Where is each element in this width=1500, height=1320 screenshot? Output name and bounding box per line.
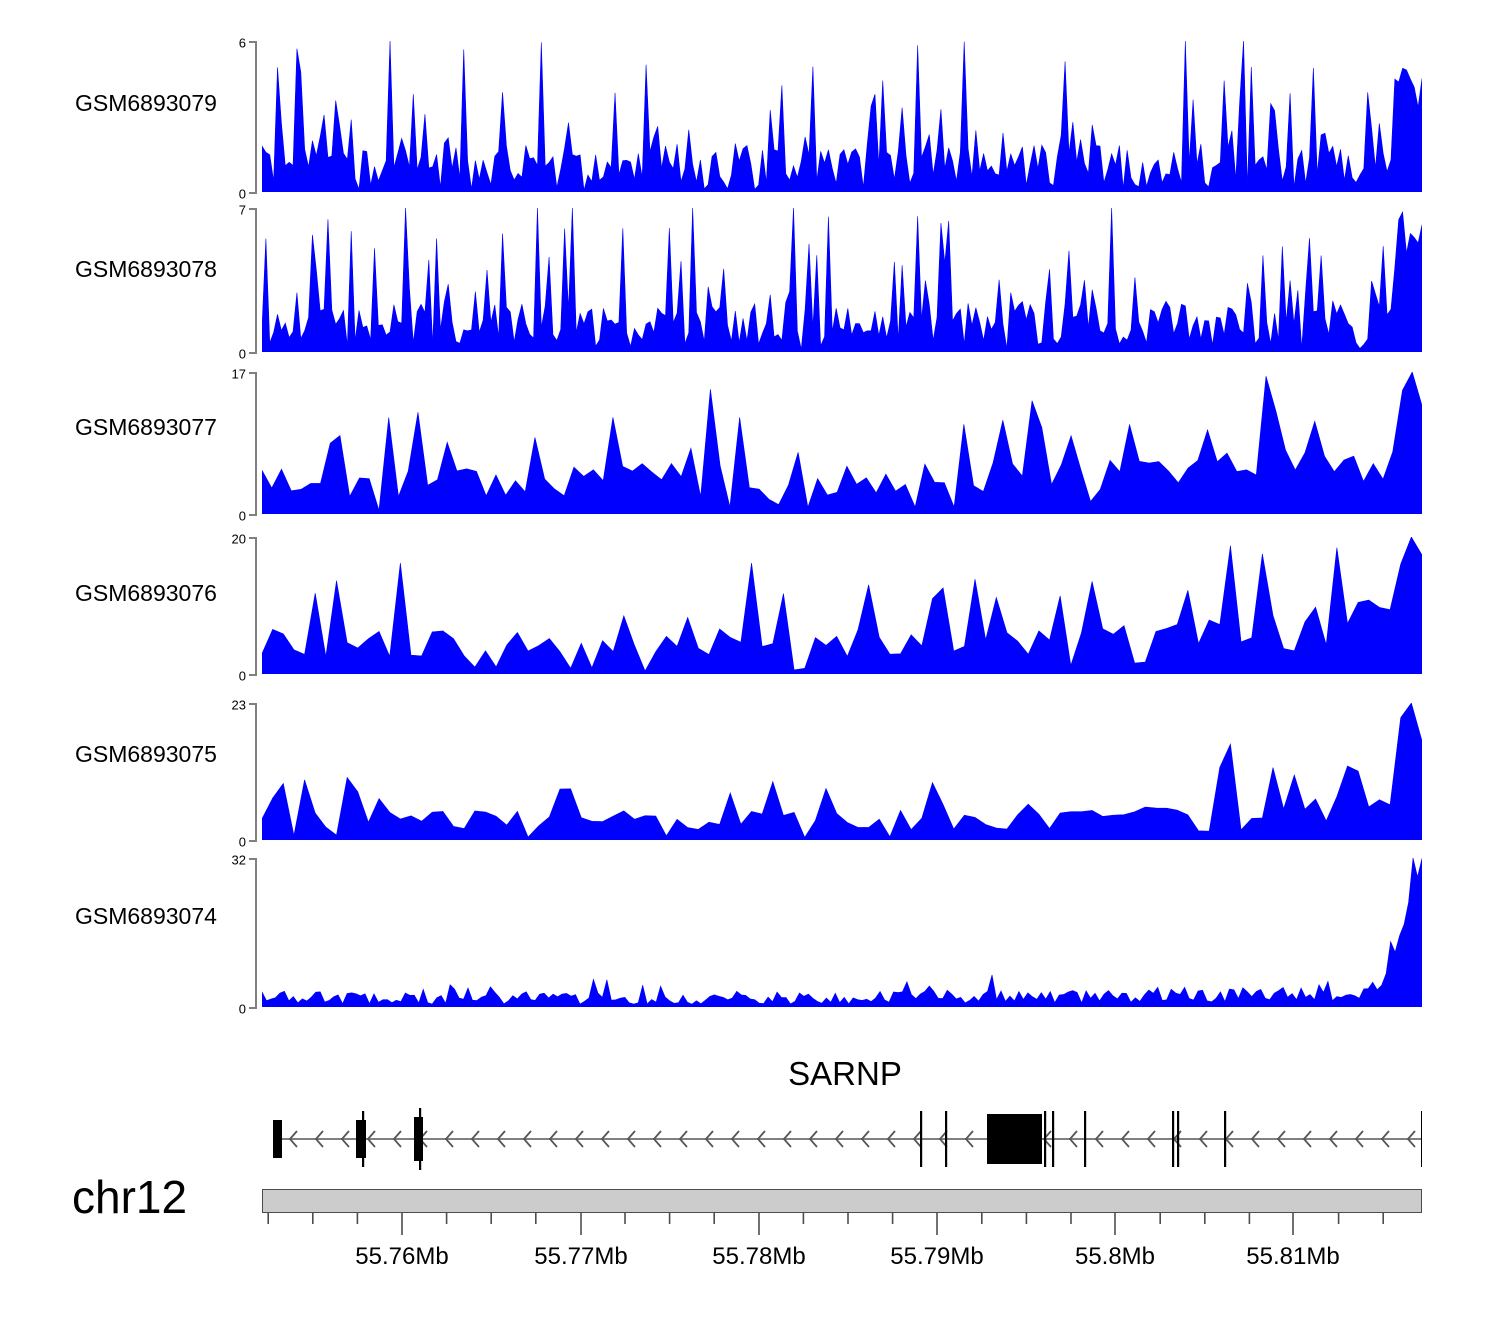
gene-name-label: SARNP [788,1055,902,1093]
coverage-area [262,208,1422,352]
transcript-boundary-marker [1052,1111,1054,1167]
coverage-area [262,537,1422,674]
y-axis-tick-max: 20 [249,537,257,539]
y-axis-min-label: 0 [239,348,246,361]
y-axis-tick-min: 0 [249,192,257,194]
transcript-boundary-marker [920,1111,922,1167]
exon-block[interactable] [273,1120,282,1158]
genome-browser-figure: GSM689307960GSM689307870GSM6893077170GSM… [0,0,1500,1320]
coverage-plot-GSM6893078 [262,208,1422,352]
y-axis-tick-max: 23 [249,703,257,705]
track-label-GSM6893075: GSM6893075 [75,741,217,768]
y-axis-tick-min: 0 [249,674,257,676]
axis-tick-label: 55.81Mb [1246,1243,1339,1271]
transcript-boundary-marker [1224,1111,1226,1167]
coverage-plot-GSM6893077 [262,372,1422,514]
y-axis-min-label: 0 [239,510,246,523]
y-axis-tick-min: 0 [249,352,257,354]
transcript-boundary-marker [1421,1111,1422,1167]
y-axis-max-label: 6 [239,37,246,50]
y-axis-max-label: 20 [232,533,246,546]
coverage-plot-GSM6893076 [262,537,1422,674]
transcript-boundary-marker [1177,1111,1179,1167]
track-label-GSM6893074: GSM6893074 [75,903,217,930]
y-axis-tick-min: 0 [249,1007,257,1009]
chromosome-label: chr12 [72,1170,187,1224]
coverage-plot-GSM6893074 [262,858,1422,1007]
exon-block[interactable] [356,1120,366,1158]
genome-axis-ticks: 55.76Mb55.77Mb55.78Mb55.79Mb55.8Mb55.81M… [262,1213,1422,1273]
gene-annotation-track: SARNP [0,1055,1500,1175]
track-label-GSM6893076: GSM6893076 [75,580,217,607]
coverage-area [262,703,1422,840]
axis-tick-label: 55.8Mb [1075,1243,1155,1271]
y-axis-tick-max: 6 [249,41,257,43]
y-axis-max-label: 23 [232,699,246,712]
track-label-GSM6893079: GSM6893079 [75,90,217,117]
axis-tick-label: 55.78Mb [712,1243,805,1271]
transcript-boundary-marker [1044,1111,1046,1167]
exon-block[interactable] [414,1117,423,1161]
gene-model[interactable] [262,1103,1422,1175]
coverage-area [262,858,1422,1007]
coverage-area [262,41,1422,192]
transcript-boundary-marker [945,1111,947,1167]
y-axis-tick-max: 7 [249,208,257,210]
coverage-plot-GSM6893079 [262,41,1422,192]
transcript-boundary-marker [1172,1111,1174,1167]
genome-axis-bar [262,1189,1422,1213]
coverage-plot-GSM6893075 [262,703,1422,840]
y-axis-max-label: 32 [232,854,246,867]
axis-tick-label: 55.79Mb [890,1243,983,1271]
y-axis-min-label: 0 [239,188,246,201]
y-axis-tick-min: 0 [249,514,257,516]
axis-tick-label: 55.77Mb [534,1243,627,1271]
axis-tick-label: 55.76Mb [355,1243,448,1271]
y-axis-tick-max: 17 [249,372,257,374]
exon-block[interactable] [987,1114,1042,1164]
track-label-GSM6893077: GSM6893077 [75,414,217,441]
y-axis-min-label: 0 [239,670,246,683]
coverage-area [262,372,1422,514]
transcript-boundary-marker [1084,1111,1086,1167]
track-label-GSM6893078: GSM6893078 [75,256,217,283]
y-axis-min-label: 0 [239,836,246,849]
y-axis-max-label: 7 [239,204,246,217]
y-axis-min-label: 0 [239,1003,246,1016]
y-axis-tick-min: 0 [249,840,257,842]
y-axis-tick-max: 32 [249,858,257,860]
y-axis-max-label: 17 [232,368,246,381]
